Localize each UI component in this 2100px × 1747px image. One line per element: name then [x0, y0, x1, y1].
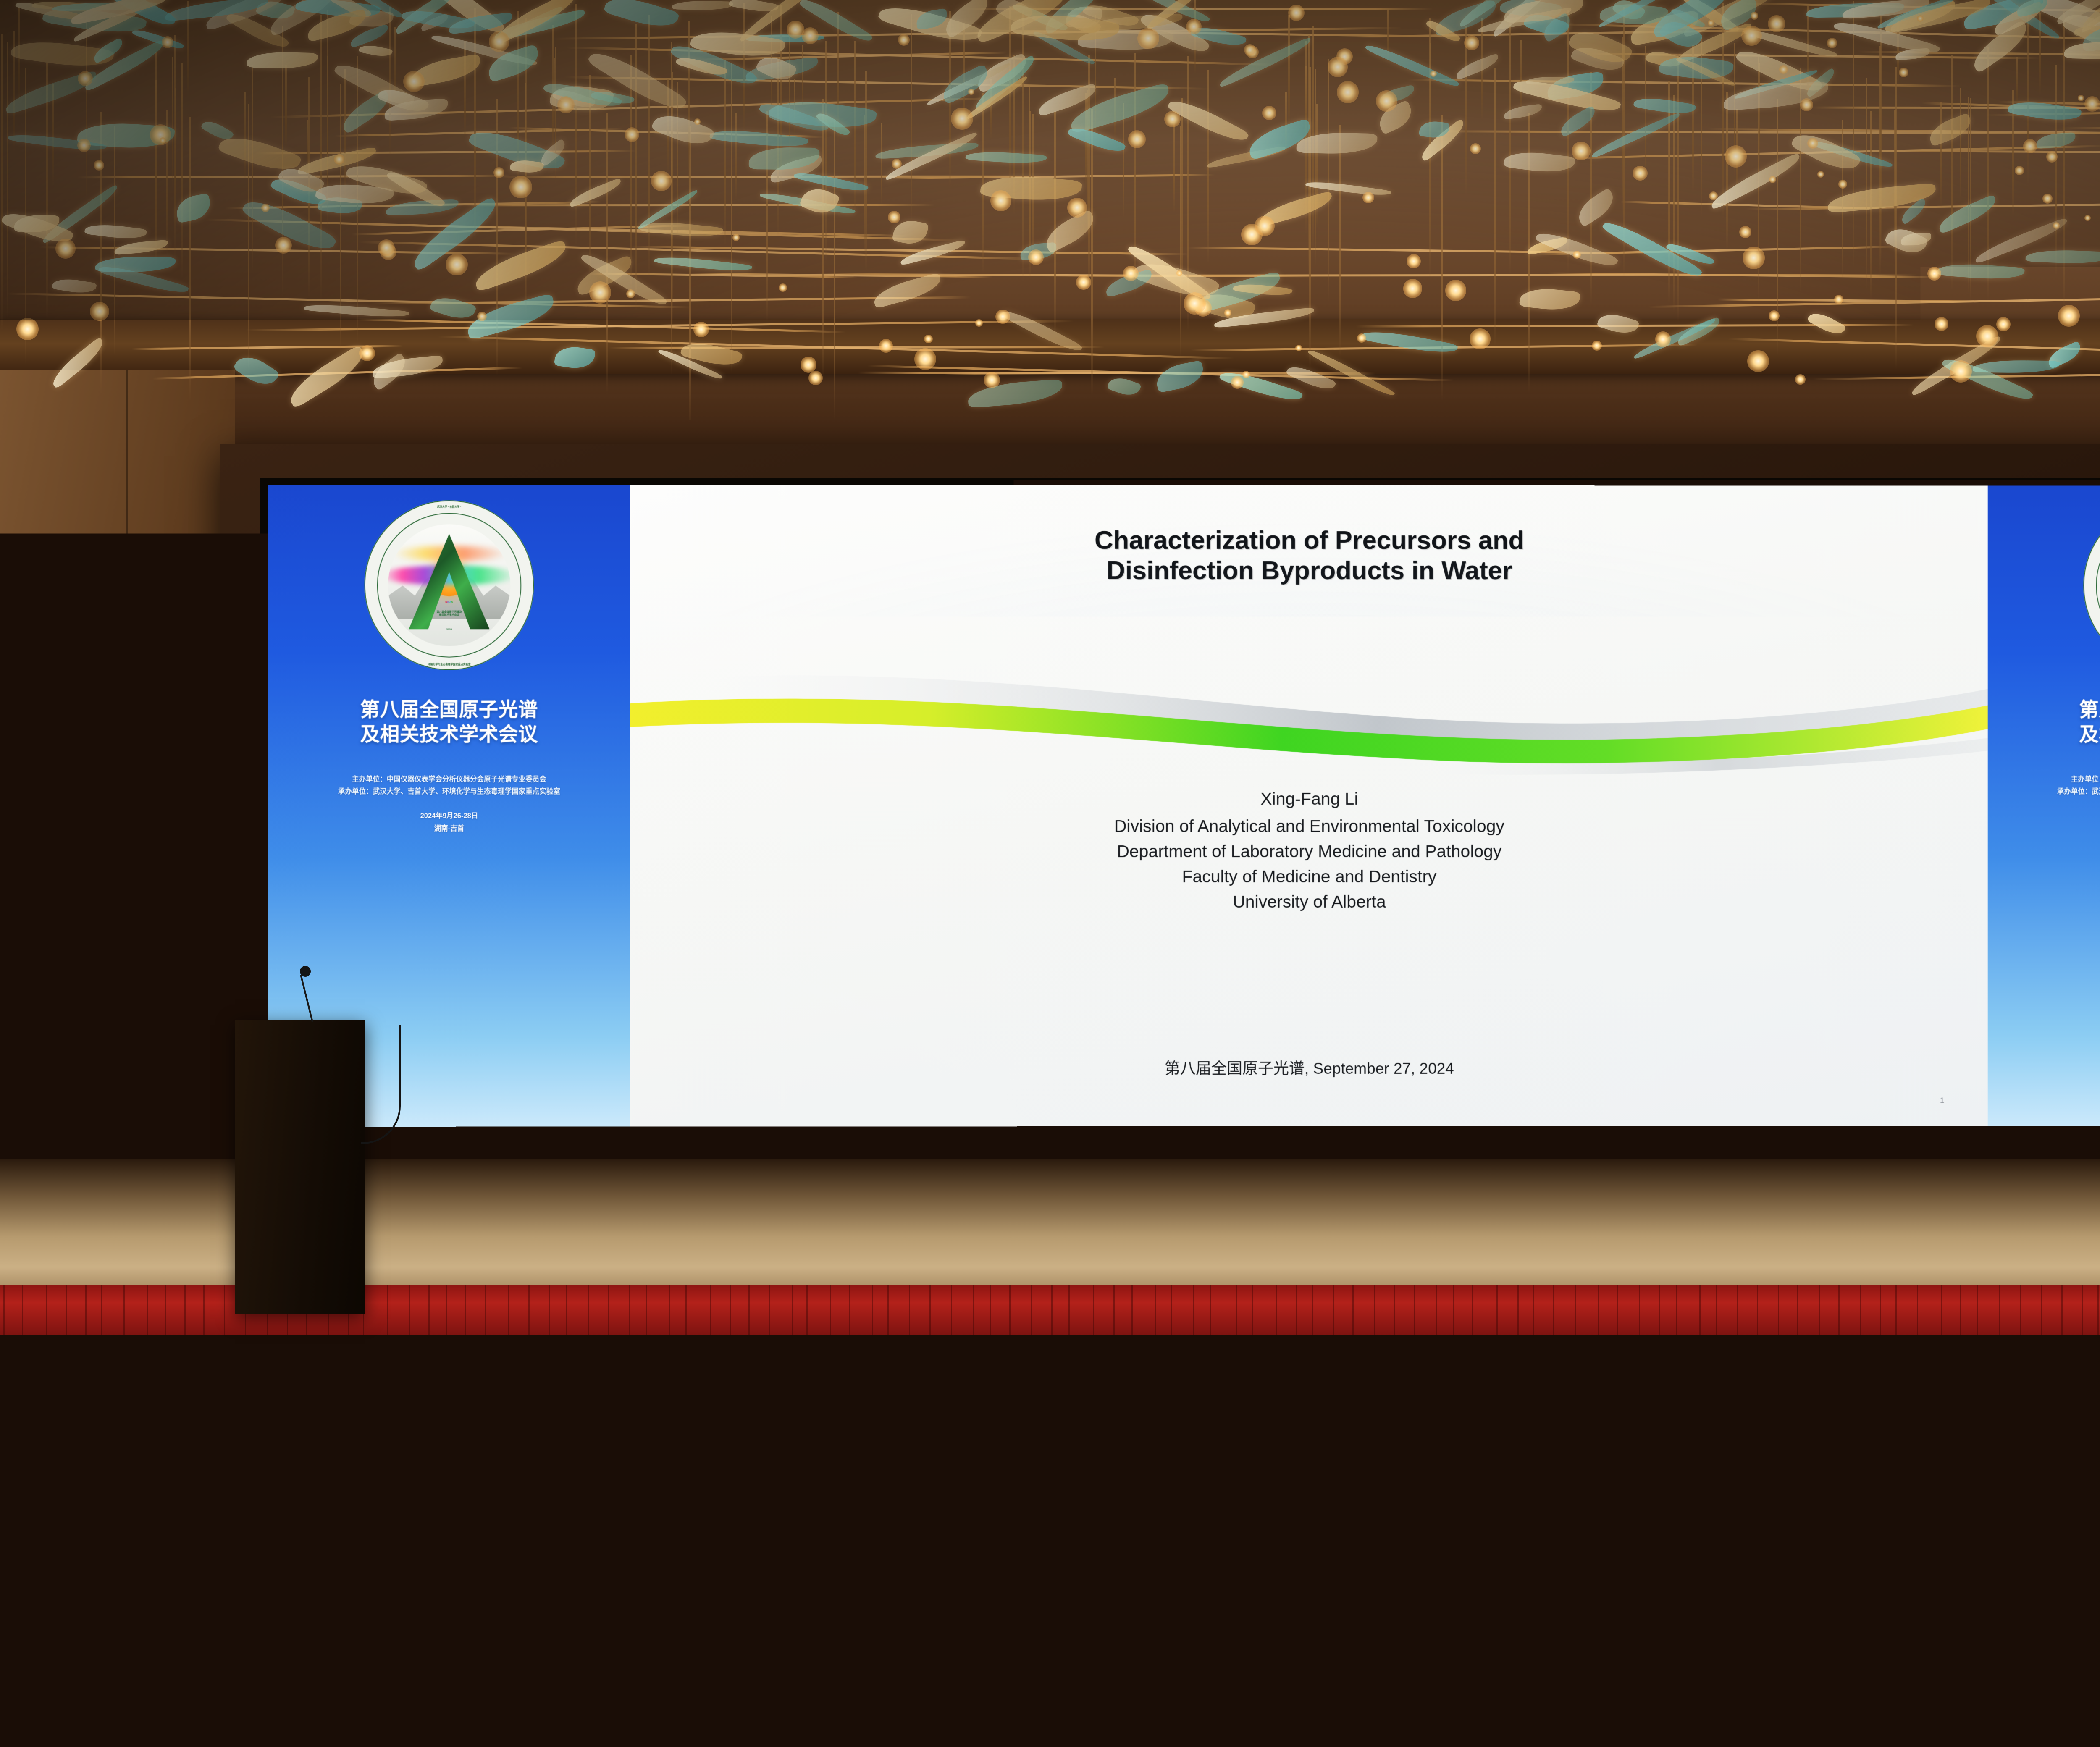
ceiling-art-installation [0, 0, 2100, 420]
sidebar-date-location: 2024年9月26-28日 湖南·吉首 [420, 810, 478, 835]
affiliation-line-2: Department of Laboratory Medicine and Pa… [684, 839, 1933, 864]
laptop [393, 1633, 488, 1696]
water-bottle [336, 1292, 344, 1315]
water-bottle [2050, 1215, 2057, 1233]
author-affiliation-block: Xing-Fang Li Division of Analytical and … [684, 787, 1933, 914]
slide-title: Characterization of Precursors and Disin… [698, 525, 1920, 586]
laptop [91, 1633, 186, 1696]
water-bottle [666, 1511, 679, 1547]
handout-paper [47, 1313, 90, 1329]
laptop [662, 1208, 700, 1233]
chair [38, 1298, 100, 1367]
slide-number: 1 [1940, 1096, 1945, 1106]
sidebar-conference-title: 第八届全国原子光谱 及相关技术学术会议 [2079, 697, 2100, 747]
laptop [197, 1156, 227, 1176]
water-bottle [402, 1161, 407, 1175]
water-bottle [973, 1215, 979, 1233]
wall-seam [126, 370, 128, 1251]
water-bottle [93, 1292, 101, 1315]
chair [267, 1220, 315, 1275]
chair [1595, 1165, 1633, 1209]
water-bottle [1325, 1511, 1337, 1547]
water-bottle [71, 1215, 77, 1233]
water-bottle [2043, 1161, 2048, 1175]
sidebar-date: 2024年9月26-28日 [420, 810, 478, 823]
water-bottle [609, 1390, 619, 1419]
water-bottle [425, 1215, 431, 1233]
water-bottle [1333, 1292, 1341, 1315]
slide-content-area: Characterization of Precursors and Disin… [630, 485, 1988, 1126]
author-name: Xing-Fang Li [684, 787, 1933, 812]
slide-date-line: 第八届全国原子光谱, September 27, 2024 [630, 1055, 1988, 1078]
sidebar-conference-title: 第八届全国原子光谱 及相关技术学术会议 [360, 697, 538, 747]
handout-paper [753, 1232, 786, 1243]
conference-table [0, 1228, 2100, 1264]
water-bottle [1992, 1292, 2000, 1315]
handout-paper [1322, 1415, 1377, 1437]
conference-logo-icon: 武汉大学 · 吉首大学 · 环境化学与生态毒理学国家重点实验室 NCAS [2083, 501, 2100, 670]
handout-paper [585, 1231, 619, 1244]
water-bottle [735, 1292, 743, 1315]
sidebar-title-line-1: 第八届全国原子光谱 [2079, 697, 2100, 722]
water-bottle [1522, 1511, 1535, 1547]
chair [963, 1165, 1001, 1209]
water-bottle [604, 1650, 620, 1696]
water-bottle [1310, 1215, 1316, 1233]
affiliation-line-1: Division of Analytical and Environmental… [684, 814, 1933, 839]
water-bottle [117, 1511, 130, 1547]
slide-title-line-1: Characterization of Precursors and [698, 525, 1920, 556]
sidebar-organizers: 主办单位：中国仪器仪表学会分析仪器分会原子光谱专业委员会 承办单位：武汉大学、吉… [327, 774, 571, 798]
chair [1296, 1520, 1392, 1629]
water-bottle [808, 1161, 813, 1175]
laptop [34, 1497, 109, 1547]
slide-title-line-2: Disinfection Byproducts in Water [698, 555, 1920, 586]
organizer-co: 承办单位：武汉大学、吉首大学、环境化学与生态毒理学国家重点实验室 [338, 786, 560, 798]
chair [1612, 1220, 1660, 1275]
slide-sidebar-right: 武汉大学 · 吉首大学 · 环境化学与生态毒理学国家重点实验室 NCAS [1988, 486, 2100, 1126]
organizer-host: 主办单位：中国仪器仪表学会分析仪器分会原子光谱专业委员会 [338, 774, 560, 786]
water-bottle [1516, 1292, 1524, 1315]
affiliation-line-4: University of Alberta [684, 889, 1933, 914]
audience-seating [0, 1134, 2100, 1747]
chair [1092, 1220, 1140, 1275]
water-bottle [1165, 1215, 1171, 1233]
microphone-icon [300, 966, 311, 977]
water-bottle [519, 1161, 524, 1175]
sidebar-organizers: 主办单位：中国仪器仪表学会分析仪器分会原子光谱专业委员会 承办单位：武汉大学、吉… [2046, 774, 2100, 798]
water-bottle [1414, 1161, 1419, 1175]
affiliation-line-3: Faculty of Medicine and Dentistry [684, 864, 1933, 889]
laptop [144, 1379, 205, 1419]
water-bottle [1805, 1650, 1821, 1696]
sidebar-title-line-1: 第八届全国原子光谱 [360, 697, 538, 722]
organizer-host: 主办单位：中国仪器仪表学会分析仪器分会原子光谱专业委员会 [2057, 774, 2100, 786]
handout-paper [1314, 1174, 1341, 1184]
water-bottle [1569, 1390, 1579, 1419]
presentation-slide: 武汉大学 · 吉首大学 · 环境化学与生态毒理学国家重点实验室 NCAS [268, 485, 2100, 1127]
logo-arc-bottom-text: 环境化学与生态毒理学国家重点实验室 [2083, 662, 2100, 666]
laptop [113, 1208, 151, 1233]
water-bottle [1784, 1390, 1794, 1419]
conference-hall-photo: 武汉大学 · 吉首大学 · 环境化学与生态毒理学国家重点实验室 NCAS [0, 0, 2100, 1747]
laptop [699, 1156, 730, 1176]
logo-arc-bottom-text: 环境化学与生态毒理学国家重点实验室 [364, 662, 534, 666]
water-bottle [183, 1161, 188, 1175]
title-divider-swoosh [630, 674, 1988, 784]
logo-acronym: NCAS [388, 601, 510, 603]
logo-arc-top-text: 武汉大学 · 吉首大学 · [364, 504, 534, 508]
water-bottle [1870, 1215, 1876, 1233]
logo-year: 2024 [388, 629, 510, 631]
water-bottle [909, 1650, 925, 1696]
led-screen-frame: 武汉大学 · 吉首大学 · 环境化学与生态毒理学国家重点实验室 NCAS [220, 444, 2100, 1158]
laptop [1387, 1633, 1481, 1696]
chair [601, 1220, 649, 1275]
sidebar-title-line-2: 及相关技术学术会议 [360, 722, 538, 747]
chair [1234, 1662, 1355, 1747]
water-bottle [1801, 1161, 1806, 1175]
laptop [348, 1156, 378, 1176]
sidebar-location: 湖南·吉首 [420, 822, 478, 835]
microphone-cable [361, 1025, 401, 1144]
handout-paper [1181, 1175, 1208, 1184]
sidebar-title-line-2: 及相关技术学术会议 [2079, 722, 2100, 747]
logo-arc-top-text: 武汉大学 · 吉首大学 · [2083, 505, 2100, 509]
water-bottle [1968, 1650, 1984, 1696]
logo-caption-2: 相关技术学术会议 [395, 614, 503, 617]
organizer-co: 承办单位：武汉大学、吉首大学、环境化学与生态毒理学国家重点实验室 [2057, 786, 2100, 798]
water-bottle [1139, 1292, 1147, 1315]
water-bottle [921, 1511, 933, 1547]
wall-panel-left [0, 370, 235, 1251]
conference-logo-icon: 武汉大学 · 吉首大学 · 环境化学与生态毒理学国家重点实验室 NCAS [364, 500, 534, 670]
water-bottle [1496, 1215, 1503, 1233]
water-bottle [1975, 1390, 1985, 1419]
screen-bezel: 武汉大学 · 吉首大学 · 环境化学与生态毒理学国家重点实验室 NCAS [260, 478, 2100, 1133]
water-bottle [1595, 1161, 1600, 1175]
